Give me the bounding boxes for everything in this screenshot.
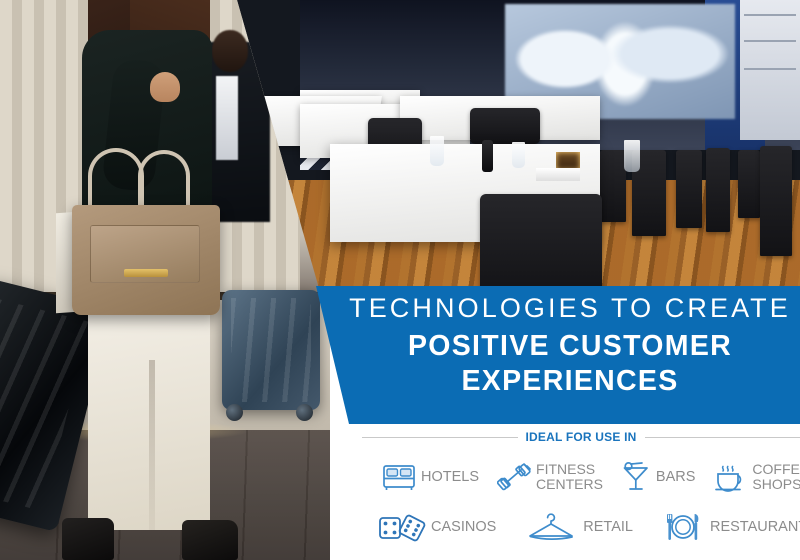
use-case-label-line1: COFFEE xyxy=(752,462,800,477)
chair xyxy=(600,150,626,222)
divider-rule-left xyxy=(362,437,518,438)
suitcase-wheel xyxy=(296,404,313,421)
drinking-glass xyxy=(430,136,444,166)
headline-line-2: POSITIVE CUSTOMER xyxy=(340,328,800,364)
chair xyxy=(738,150,760,218)
use-case-label: RESTAURANTS xyxy=(710,520,800,535)
background-staff-shirt xyxy=(216,76,238,160)
woman-hand xyxy=(150,72,180,102)
restaurant-shelf xyxy=(740,0,800,140)
use-case-casinos[interactable]: CASINOS xyxy=(378,511,496,543)
coffee-cup-icon xyxy=(713,462,747,492)
use-case-label: BARS xyxy=(656,470,696,485)
use-case-retail[interactable]: RETAIL xyxy=(524,512,633,542)
background-staff-head xyxy=(212,30,248,72)
use-case-coffee-shops[interactable]: COFFEE SHOPS xyxy=(713,462,800,492)
divider-label: IDEAL FOR USE IN xyxy=(526,430,637,444)
handbag-handle xyxy=(88,148,144,210)
headline-line-1: TECHNOLOGIES TO CREATE xyxy=(340,288,800,328)
use-case-label: CASINOS xyxy=(431,520,496,535)
woman-shoe xyxy=(62,518,114,560)
use-case-label-line2: CENTERS xyxy=(536,477,603,492)
use-case-label-line2: SHOPS xyxy=(752,477,800,492)
use-case-rows: HOTELS FITNESS CE xyxy=(366,452,800,552)
use-case-label-stack: FITNESS CENTERS xyxy=(536,462,603,492)
woman-trousers xyxy=(88,300,210,530)
dice-icon xyxy=(378,511,426,543)
divider-rule-right xyxy=(645,437,800,438)
use-case-label: HOTELS xyxy=(421,470,479,485)
chair xyxy=(706,148,730,232)
chair xyxy=(760,146,792,256)
handbag-clasp xyxy=(124,269,168,277)
use-case-label-stack: COFFEE SHOPS xyxy=(752,462,800,492)
woman-shoe xyxy=(182,520,238,560)
bed-icon xyxy=(382,463,416,491)
chair xyxy=(676,150,702,228)
headline-block: TECHNOLOGIES TO CREATE POSITIVE CUSTOMER… xyxy=(340,288,800,398)
plate-cutlery-icon xyxy=(661,511,705,543)
pepper-mill xyxy=(482,140,493,172)
use-case-hotels[interactable]: HOTELS xyxy=(382,463,479,491)
folded-napkin xyxy=(536,168,580,181)
cocktail-icon xyxy=(621,462,651,492)
use-case-restaurants[interactable]: RESTAURANTS xyxy=(661,511,800,543)
chair xyxy=(470,108,540,144)
blue-suitcase xyxy=(222,290,320,410)
use-case-fitness-centers[interactable]: FITNESS CENTERS xyxy=(497,462,603,492)
drinking-glass xyxy=(624,140,640,172)
suitcase-wheel xyxy=(226,404,243,421)
use-case-bars[interactable]: BARS xyxy=(621,462,696,492)
headline-line-3: EXPERIENCES xyxy=(340,364,800,398)
drinking-glass xyxy=(512,142,525,168)
leather-handbag xyxy=(72,205,220,315)
use-case-row: CASINOS RETAIL xyxy=(366,502,800,552)
handbag-handle xyxy=(138,150,190,212)
use-case-label-line1: FITNESS xyxy=(536,462,603,477)
dumbbell-icon xyxy=(497,462,531,492)
clothes-hanger-icon xyxy=(524,512,578,542)
use-case-label: RETAIL xyxy=(583,520,633,535)
foreground-chair xyxy=(480,194,602,300)
use-case-row: HOTELS FITNESS CE xyxy=(366,452,800,502)
marketing-poster: TECHNOLOGIES TO CREATE POSITIVE CUSTOMER… xyxy=(0,0,800,560)
ideal-for-use-in-divider: IDEAL FOR USE IN xyxy=(362,430,800,444)
